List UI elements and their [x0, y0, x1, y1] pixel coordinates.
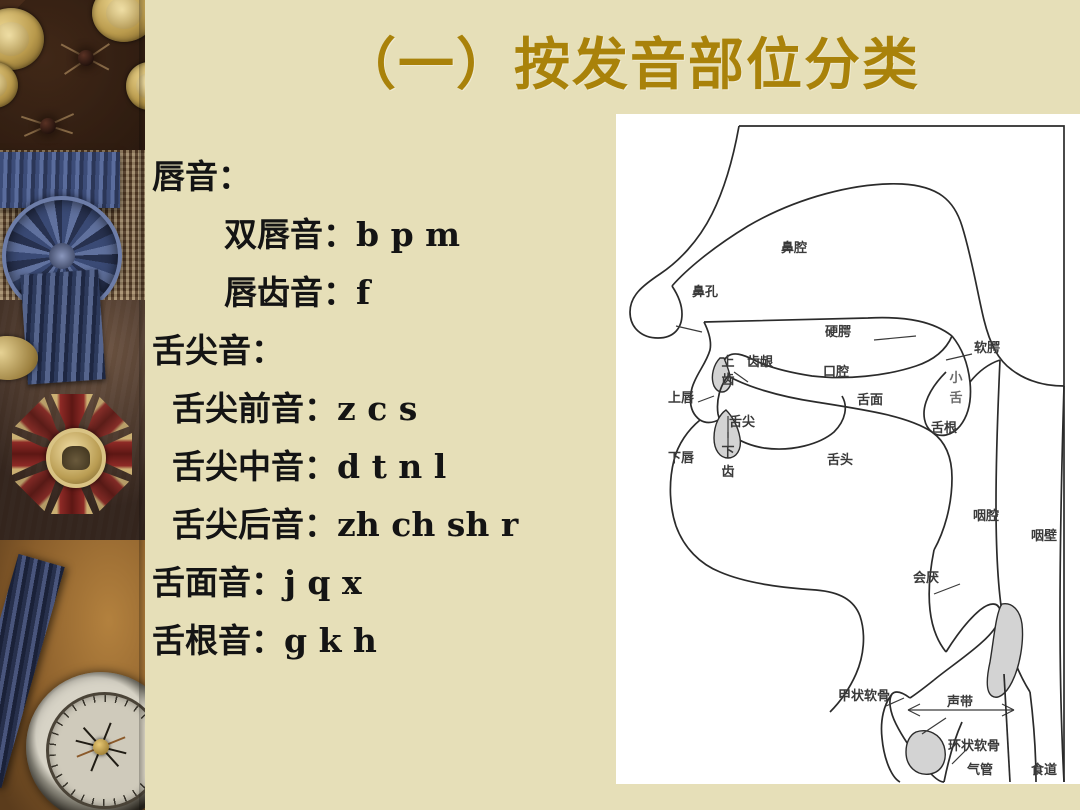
label-epiglottis: 会厌 [913, 570, 939, 586]
label-esophagus: 食道 [1031, 762, 1057, 778]
medal-center-medallion [46, 428, 106, 488]
label-thyroid-cartilage: 甲状软骨 [838, 688, 890, 704]
label-nasal-cavity: 鼻腔 [781, 240, 807, 256]
medal-cross [2, 384, 142, 524]
label-upper-teeth-char2: 齿 [721, 372, 734, 388]
vocal-organs-diagram-svg: 鼻腔 鼻孔 硬腭 软腭 齿龈 上 齿 上唇 口腔 舌面 舌尖 小 舌 舌根 舌头… [616, 114, 1080, 784]
label-pharyngeal-cavity: 咽腔 [973, 508, 999, 524]
compass-hub [93, 739, 109, 755]
label-uvula-char2: 舌 [949, 390, 962, 406]
list-item: 舌尖后音：zh ch sh r [152, 496, 622, 554]
list-item: 唇音： [152, 148, 622, 206]
label-lower-teeth-char2: 齿 [721, 464, 734, 480]
list-item: 舌尖音： [152, 322, 622, 380]
label-upper-lip: 上唇 [668, 390, 695, 406]
content-text-block: 唇音： 双唇音：b p m 唇齿音：f 舌尖音： 舌尖前音：z c s 舌尖中音… [152, 148, 622, 670]
stud-icon [40, 118, 56, 134]
decorative-photo-strip [0, 0, 145, 810]
label-trachea: 气管 [967, 762, 993, 778]
label-lower-teeth-char1: 下 [721, 445, 734, 460]
list-item: 舌尖前音：z c s [152, 380, 622, 438]
label-vocal-cords: 声带 [946, 694, 973, 710]
label-upper-gum: 齿龈 [747, 354, 774, 370]
strip-edge-shadow [139, 0, 145, 810]
vocal-organs-diagram: 鼻腔 鼻孔 硬腭 软腭 齿龈 上 齿 上唇 口腔 舌面 舌尖 小 舌 舌根 舌头… [616, 114, 1080, 784]
label-pharyngeal-wall: 咽壁 [1031, 528, 1057, 544]
list-item: 唇齿音：f [152, 264, 622, 322]
label-tongue-root: 舌根 [931, 420, 958, 436]
label-lower-lip: 下唇 [668, 450, 695, 466]
label-uvula-char1: 小 [949, 371, 962, 386]
label-tongue-tip: 舌尖 [729, 414, 755, 430]
stud-icon [78, 50, 94, 66]
label-tongue-surface: 舌面 [857, 392, 883, 408]
label-upper-teeth-char1: 上 [721, 355, 734, 370]
list-item: 舌根音：g k h [152, 612, 622, 670]
label-cricoid-cartilage: 环状软骨 [948, 738, 1000, 754]
label-hard-palate: 硬腭 [825, 324, 851, 340]
label-oral-cavity: 口腔 [823, 364, 849, 380]
label-nostril: 鼻孔 [692, 284, 718, 300]
list-item: 双唇音：b p m [152, 206, 622, 264]
list-item: 舌尖中音：d t n l [152, 438, 622, 496]
page-title: （一）按发音部位分类 [200, 20, 1060, 101]
label-tongue-body: 舌头 [827, 452, 853, 468]
label-soft-palate: 软腭 [974, 340, 1000, 356]
slide-canvas: （一）按发音部位分类 唇音： 双唇音：b p m 唇齿音：f 舌尖音： 舌尖前音… [0, 0, 1080, 810]
list-item: 舌面音：j q x [152, 554, 622, 612]
